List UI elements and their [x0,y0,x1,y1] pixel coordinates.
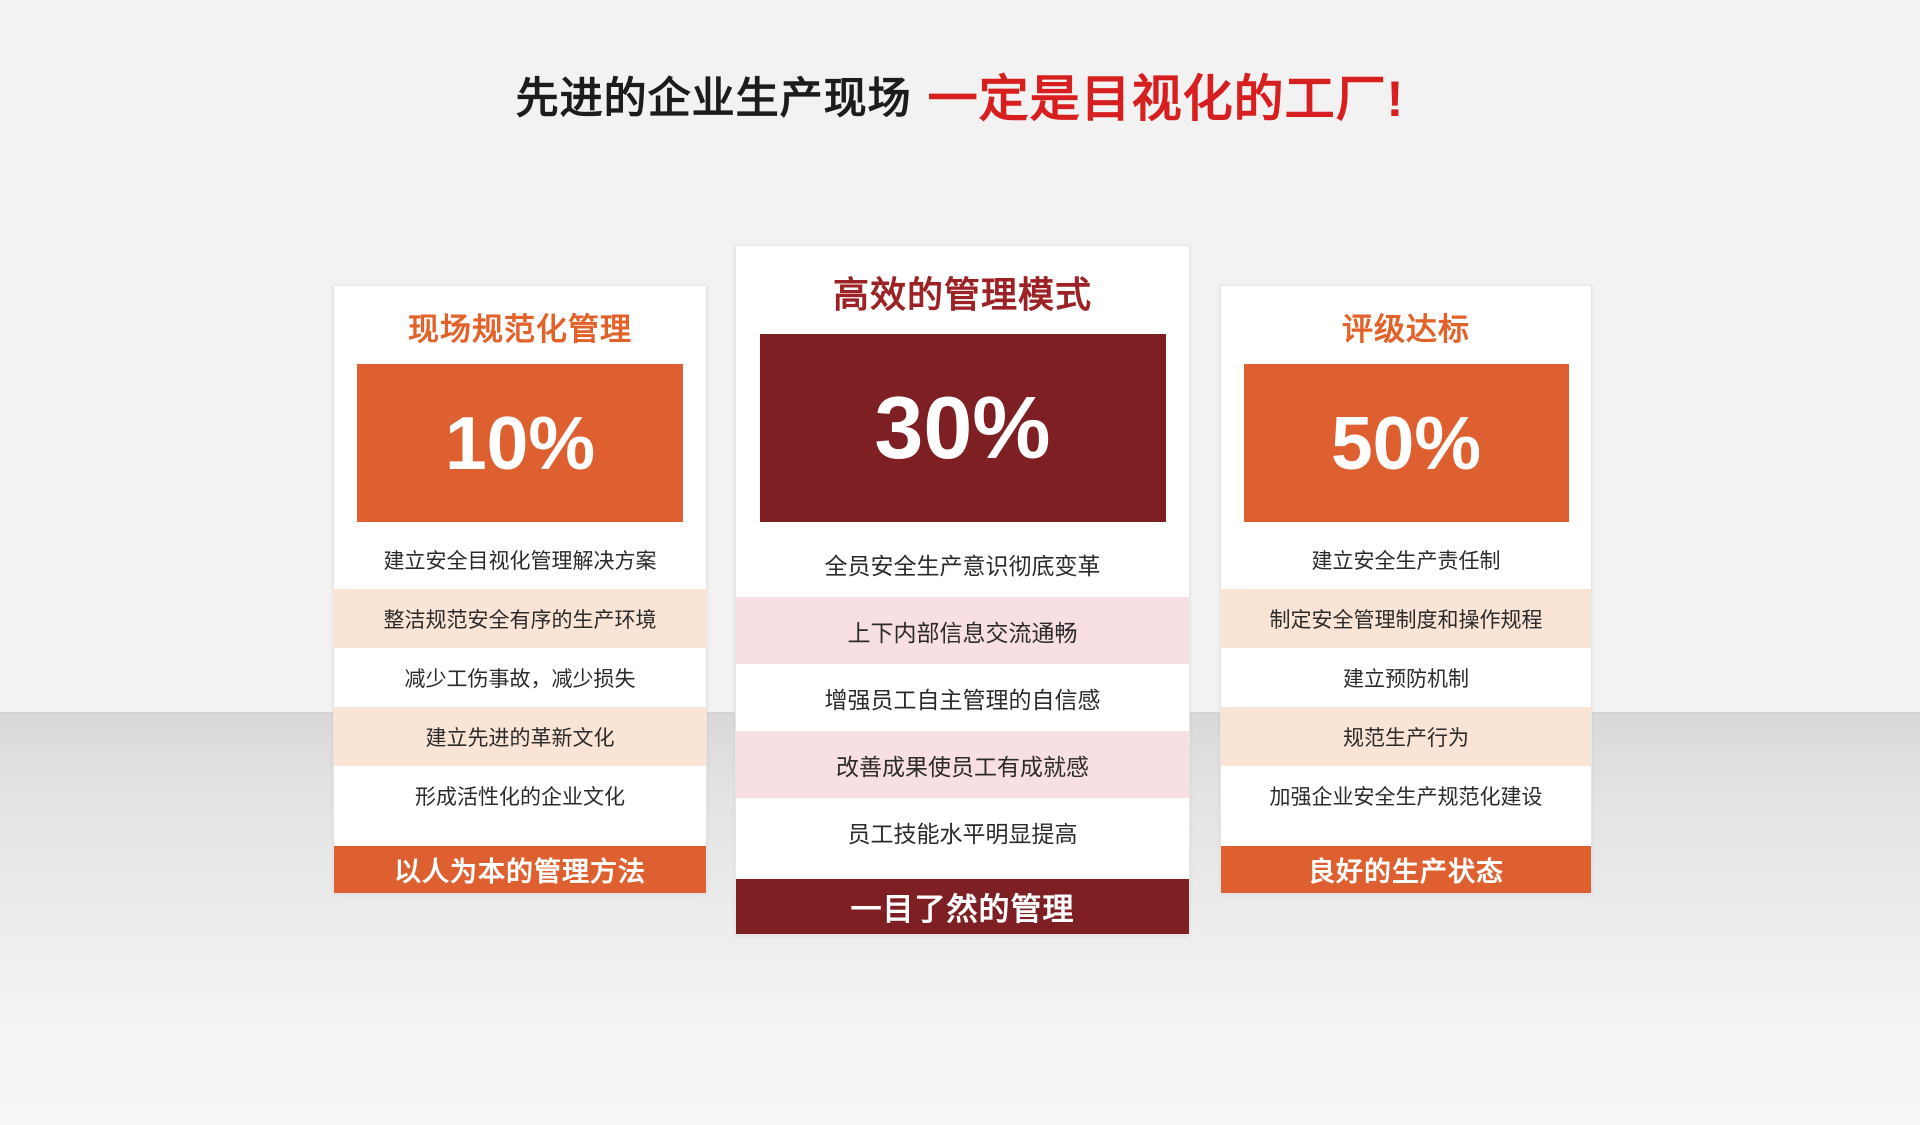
card-percent-badge: 50% [1244,364,1569,522]
metric-card-rating-compliance[interactable]: 评级达标 50% 建立安全生产责任制 制定安全管理制度和操作规程 建立预防机制 … [1220,285,1592,894]
list-item: 上下内部信息交流通畅 [736,597,1189,664]
page-title-accent: 一定是目视化的工厂! [928,74,1405,124]
list-item: 建立安全生产责任制 [1221,530,1591,589]
list-item: 加强企业安全生产规范化建设 [1221,766,1591,825]
list-item: 整洁规范安全有序的生产环境 [334,589,706,648]
card-percent-badge: 30% [760,334,1166,522]
page-title-primary: 先进的企业生产现场 [516,78,912,121]
list-item: 员工技能水平明显提高 [736,798,1189,865]
card-benefit-list: 建立安全目视化管理解决方案 整洁规范安全有序的生产环境 减少工伤事故，减少损失 … [334,530,706,825]
list-item: 建立预防机制 [1221,648,1591,707]
card-footer-banner: 以人为本的管理方法 [334,846,706,893]
list-item: 全员安全生产意识彻底变革 [736,530,1189,597]
list-item: 改善成果使员工有成就感 [736,731,1189,798]
card-title: 高效的管理模式 [736,246,1189,313]
list-item: 建立安全目视化管理解决方案 [334,530,706,589]
card-footer-banner: 良好的生产状态 [1221,846,1591,893]
metric-card-efficient-management[interactable]: 高效的管理模式 30% 全员安全生产意识彻底变革 上下内部信息交流通畅 增强员工… [735,245,1190,935]
list-item: 增强员工自主管理的自信感 [736,664,1189,731]
card-benefit-list: 建立安全生产责任制 制定安全管理制度和操作规程 建立预防机制 规范生产行为 加强… [1221,530,1591,825]
page-title: 先进的企业生产现场一定是目视化的工厂! [0,74,1920,124]
card-title: 评级达标 [1221,286,1591,345]
list-item: 建立先进的革新文化 [334,707,706,766]
list-item: 形成活性化的企业文化 [334,766,706,825]
card-title: 现场规范化管理 [334,286,706,345]
list-item: 减少工伤事故，减少损失 [334,648,706,707]
list-item: 制定安全管理制度和操作规程 [1221,589,1591,648]
list-item: 规范生产行为 [1221,707,1591,766]
card-footer-banner: 一目了然的管理 [736,879,1189,934]
metric-card-site-standardization[interactable]: 现场规范化管理 10% 建立安全目视化管理解决方案 整洁规范安全有序的生产环境 … [333,285,707,894]
card-percent-badge: 10% [357,364,683,522]
card-benefit-list: 全员安全生产意识彻底变革 上下内部信息交流通畅 增强员工自主管理的自信感 改善成… [736,530,1189,865]
